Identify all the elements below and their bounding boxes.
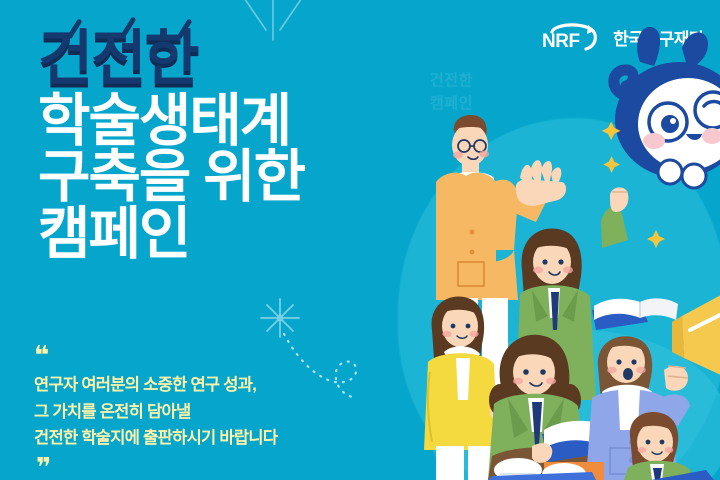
figure-student-reading-book <box>624 412 694 480</box>
headline-line-2: 학술생태계 <box>38 94 438 149</box>
quote-close-mark: ❞ <box>36 454 364 480</box>
quote-line-1: 연구자 여러분의 소중한 연구 성과, <box>34 372 364 399</box>
headline-group: 건전한 학술생태계 구축을 위한 캠페인 <box>38 30 438 264</box>
blue-bunny-mascot <box>614 27 720 188</box>
headline-line-4: 캠페인 <box>38 207 438 262</box>
campaign-banner: 건전한 캠페인 NRF 한국연구재단 건전한 학술생태계 구축을 위한 캠페인 … <box>0 0 720 480</box>
open-book-upper <box>592 298 678 330</box>
quote-open-mark: ❝ <box>34 342 364 368</box>
students-and-researchers-illustration <box>396 0 720 480</box>
headline-line-1: 건전한 <box>38 30 438 88</box>
quote-line-2: 그 가치를 온전히 담아낼 <box>34 399 364 426</box>
quote-block: ❝ 연구자 여러분의 소중한 연구 성과, 그 가치를 온전히 담아낼 건전한 … <box>34 342 364 480</box>
waving-hand <box>516 160 566 206</box>
quote-line-3: 건전한 학술지에 출판하시기 바랍니다 <box>34 425 364 452</box>
headline-line-3: 구축을 위한 <box>38 150 438 205</box>
